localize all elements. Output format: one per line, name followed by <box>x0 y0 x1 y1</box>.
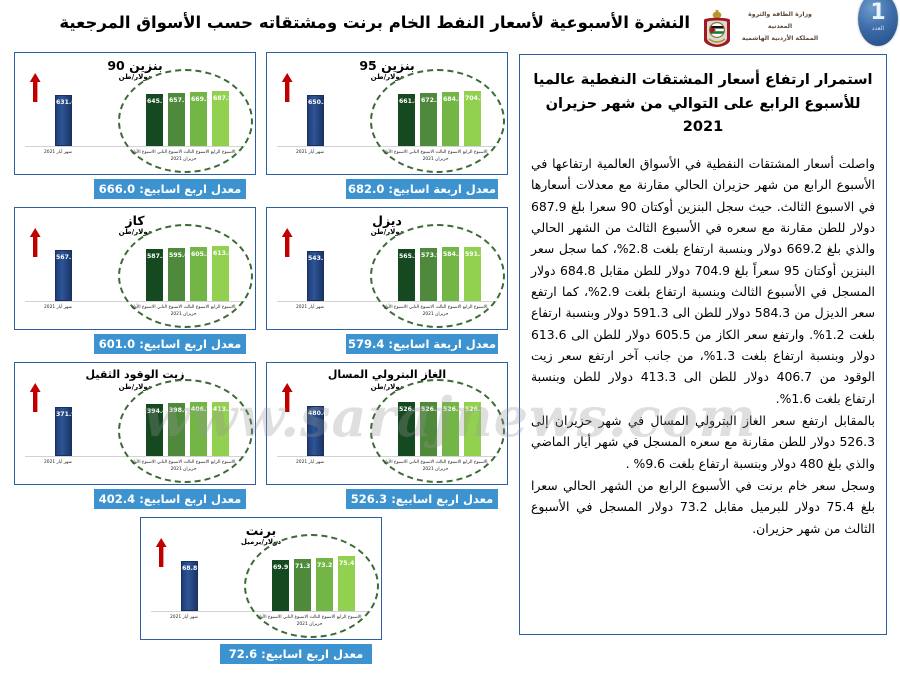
article-paragraph-1: واصلت أسعار المشتقات النفطية في الأسواق … <box>531 153 875 409</box>
issue-label: العدد <box>872 25 884 32</box>
chart-panel-kerosene: كازدولار/طن567.1587.3595.0605.5613.6شهر … <box>14 207 256 330</box>
chart-title-heavy-fuel-oil: زيت الوقود الثقيل <box>15 368 255 381</box>
x-axis-line <box>25 146 245 147</box>
bar-brent-0: 68.8 <box>181 561 198 611</box>
chart-panel-heavy-fuel-oil: زيت الوقود الثقيلدولار/طن371.9394.4398.6… <box>14 362 256 485</box>
bar-value: 394.4 <box>147 408 162 415</box>
bar-benzene-95-4: 704.5 <box>464 91 481 146</box>
plot-area-brent: 68.869.971.373.275.4 <box>147 544 375 612</box>
x-label-weeks: الاسبوع الرابع الاسبوع الثالث الاسبوع ال… <box>374 305 497 310</box>
x-label-month: حزيران 2021 <box>122 312 245 317</box>
x-label-previous-month: شهر أيار 2021 <box>25 150 91 155</box>
bar-kerosene-1: 587.3 <box>146 249 163 301</box>
article-body: واصلت أسعار المشتقات النفطية في الأسواق … <box>531 153 875 539</box>
chart-title-brent: برنت <box>141 523 381 538</box>
jordan-coat-of-arms-icon <box>700 6 734 48</box>
bar-diesel-0: 543.1 <box>307 251 324 301</box>
bar-lpg-0: 480.0 <box>307 406 324 456</box>
ministry-name: وزارة الطاقة والثروة المعدنية المملكة ال… <box>738 9 822 44</box>
x-label-weeks: الاسبوع الرابع الاسبوع الثالث الاسبوع ال… <box>122 305 245 310</box>
issue-badge: 1 العدد <box>858 0 898 46</box>
bar-brent-1: 69.9 <box>272 560 289 611</box>
bar-value: 645.7 <box>147 98 162 105</box>
x-label-month: حزيران 2021 <box>122 157 245 162</box>
bar-diesel-2: 573.9 <box>420 248 437 301</box>
ministry-line-2: المملكة الأردنية الهاشمية <box>738 33 822 45</box>
x-axis-line <box>277 456 497 457</box>
chart-heavy-fuel-oil: زيت الوقود الثقيلدولار/طن371.9394.4398.6… <box>14 362 256 485</box>
bar-value: 661.8 <box>399 98 414 105</box>
bar-brent-2: 71.3 <box>294 559 311 611</box>
bar-heavy-fuel-oil-3: 406.7 <box>190 402 207 456</box>
bar-brent-4: 75.4 <box>338 556 355 611</box>
bar-benzene-90-4: 687.9 <box>212 91 229 146</box>
bar-kerosene-2: 595.0 <box>168 248 185 301</box>
chart-lpg: الغاز البترولي المسالدولار/طن480.0526.35… <box>266 362 508 485</box>
average-chip-brent: معدل اربع اسابيع: 72.6 <box>220 644 372 664</box>
chart-title-lpg: الغاز البترولي المسال <box>267 368 507 381</box>
x-axis-line <box>25 456 245 457</box>
article-panel: استمرار ارتفاع أسعار المشتقات النفطية عا… <box>519 54 887 635</box>
x-label-month: حزيران 2021 <box>374 467 497 472</box>
ministry-logo: وزارة الطاقة والثروة المعدنية المملكة ال… <box>694 4 822 50</box>
bar-value: 413.3 <box>213 406 228 413</box>
article-paragraph-3: وسجل سعر خام برنت في الأسبوع الرابع من ا… <box>531 475 875 539</box>
chart-panel-diesel: ديزلدولار/طن543.1565.2573.9584.3591.3شهر… <box>266 207 508 330</box>
bar-lpg-1: 526.3 <box>398 402 415 457</box>
bar-value: 650.3 <box>308 99 323 106</box>
bar-heavy-fuel-oil-4: 413.3 <box>212 402 229 456</box>
plot-area-kerosene: 567.1587.3595.0605.5613.6 <box>21 234 249 302</box>
bar-value: 657.1 <box>169 97 184 104</box>
x-axis-line <box>277 146 497 147</box>
x-label-month: حزيران 2021 <box>374 157 497 162</box>
ministry-line-1: وزارة الطاقة والثروة المعدنية <box>738 9 822 33</box>
bar-value: 526.3 <box>399 406 414 413</box>
bar-value: 613.6 <box>213 250 228 257</box>
bar-heavy-fuel-oil-2: 398.6 <box>168 403 185 456</box>
bar-benzene-95-2: 672.2 <box>420 93 437 146</box>
chart-diesel: ديزلدولار/طن543.1565.2573.9584.3591.3شهر… <box>266 207 508 330</box>
x-label-weeks: الاسبوع الرابع الاسبوع الثالث الاسبوع ال… <box>122 150 245 155</box>
x-label-previous-month: شهر أيار 2021 <box>277 305 343 310</box>
x-label-month: حزيران 2021 <box>122 467 245 472</box>
bar-value: 672.2 <box>421 97 436 104</box>
bar-value: 631.6 <box>56 99 71 106</box>
bar-value: 591.3 <box>465 251 480 258</box>
page-title: النشرة الأسبوعية لأسعار النفط الخام برنت… <box>130 13 690 32</box>
bar-value: 371.9 <box>56 411 71 418</box>
bar-benzene-95-3: 684.8 <box>442 92 459 146</box>
bar-value: 398.6 <box>169 407 184 414</box>
bar-value: 669.2 <box>191 96 206 103</box>
chart-brent: برنتدولار/برميل68.869.971.373.275.4شهر أ… <box>140 517 382 640</box>
average-chip-benzene-95: معدل اربعة اسابيع: 682.0 <box>346 179 498 199</box>
bar-benzene-90-2: 657.1 <box>168 93 185 146</box>
bar-benzene-90-1: 645.7 <box>146 94 163 146</box>
plot-area-heavy-fuel-oil: 371.9394.4398.6406.7413.3 <box>21 389 249 457</box>
x-label-weeks: الاسبوع الرابع الاسبوع الثالث الاسبوع ال… <box>374 460 497 465</box>
chart-panel-lpg: الغاز البترولي المسالدولار/طن480.0526.35… <box>266 362 508 485</box>
chart-title-benzene-90: بنزين 90 <box>15 58 255 73</box>
x-axis-line <box>25 301 245 302</box>
bar-diesel-3: 584.3 <box>442 247 459 301</box>
bar-heavy-fuel-oil-0: 371.9 <box>55 407 72 456</box>
average-chip-benzene-90: معدل اربع اسابيع: 666.0 <box>94 179 246 199</box>
bar-value: 687.9 <box>213 95 228 102</box>
plot-area-lpg: 480.0526.3526.3526.3526.3 <box>273 389 501 457</box>
x-label-weeks: الاسبوع الرابع الاسبوع الثالث الاسبوع ال… <box>374 150 497 155</box>
issue-number: 1 <box>870 0 885 25</box>
bar-kerosene-0: 567.1 <box>55 250 72 301</box>
bar-value: 68.8 <box>182 565 197 572</box>
chart-kerosene: كازدولار/طن567.1587.3595.0605.5613.6شهر … <box>14 207 256 330</box>
charts-area: بنزين 90دولار/طن631.6645.7657.1669.2687.… <box>14 52 514 672</box>
chart-benzene-90: بنزين 90دولار/طن631.6645.7657.1669.2687.… <box>14 52 256 175</box>
plot-area-benzene-90: 631.6645.7657.1669.2687.9 <box>21 79 249 147</box>
plot-area-diesel: 543.1565.2573.9584.3591.3 <box>273 234 501 302</box>
chart-title-benzene-95: بنزين 95 <box>267 58 507 73</box>
bar-value: 565.2 <box>399 253 414 260</box>
bar-value: 526.3 <box>421 406 436 413</box>
bar-value: 73.2 <box>317 562 332 569</box>
bar-brent-3: 73.2 <box>316 558 333 611</box>
bar-value: 704.5 <box>465 95 480 102</box>
bar-value: 71.3 <box>295 563 310 570</box>
bar-value: 543.1 <box>308 255 323 262</box>
chart-title-kerosene: كاز <box>15 213 255 228</box>
bar-value: 684.8 <box>443 96 458 103</box>
bar-value: 69.9 <box>273 564 288 571</box>
page-header: النشرة الأسبوعية لأسعار النفط الخام برنت… <box>0 0 900 52</box>
article-paragraph-2: بالمقابل ارتفع سعر الغاز البترولي المسال… <box>531 410 875 474</box>
average-chip-diesel: معدل اربعة اسابيع: 579.4 <box>346 334 498 354</box>
x-label-month: حزيران 2021 <box>248 622 371 627</box>
bar-diesel-4: 591.3 <box>464 247 481 301</box>
average-chip-kerosene: معدل اربع اسابيع: 601.0 <box>94 334 246 354</box>
bar-kerosene-4: 613.6 <box>212 246 229 301</box>
chart-panel-benzene-90: بنزين 90دولار/طن631.6645.7657.1669.2687.… <box>14 52 256 175</box>
bar-benzene-90-3: 669.2 <box>190 92 207 146</box>
bar-value: 584.3 <box>443 251 458 258</box>
bar-heavy-fuel-oil-1: 394.4 <box>146 404 163 456</box>
x-label-month: حزيران 2021 <box>374 312 497 317</box>
bar-value: 567.1 <box>56 254 71 261</box>
bar-value: 573.9 <box>421 252 436 259</box>
average-chip-lpg: معدل اربع اسابيع: 526.3 <box>346 489 498 509</box>
bar-kerosene-3: 605.5 <box>190 247 207 301</box>
chart-panel-benzene-95: بنزين 95دولار/طن650.3661.8672.2684.8704.… <box>266 52 508 175</box>
chart-panel-brent: برنتدولار/برميل68.869.971.373.275.4شهر أ… <box>140 517 382 640</box>
chart-benzene-95: بنزين 95دولار/طن650.3661.8672.2684.8704.… <box>266 52 508 175</box>
x-label-previous-month: شهر أيار 2021 <box>277 150 343 155</box>
plot-area-benzene-95: 650.3661.8672.2684.8704.5 <box>273 79 501 147</box>
bar-lpg-2: 526.3 <box>420 402 437 457</box>
bar-benzene-95-1: 661.8 <box>398 94 415 146</box>
bar-value: 526.3 <box>443 406 458 413</box>
x-label-previous-month: شهر أيار 2021 <box>25 305 91 310</box>
bar-value: 587.3 <box>147 253 162 260</box>
bar-benzene-90-0: 631.6 <box>55 95 72 146</box>
x-label-previous-month: شهر أيار 2021 <box>277 460 343 465</box>
x-label-previous-month: شهر أيار 2021 <box>25 460 91 465</box>
bar-value: 75.4 <box>339 560 354 567</box>
bar-value: 605.5 <box>191 251 206 258</box>
average-chip-heavy-fuel-oil: معدل اربع اسابيع: 402.4 <box>94 489 246 509</box>
chart-title-diesel: ديزل <box>267 213 507 228</box>
bar-value: 480.0 <box>308 410 323 417</box>
bar-lpg-3: 526.3 <box>442 402 459 457</box>
bar-value: 406.7 <box>191 406 206 413</box>
bar-value: 595.0 <box>169 252 184 259</box>
x-label-weeks: الاسبوع الرابع الاسبوع الثالث الاسبوع ال… <box>122 460 245 465</box>
bar-diesel-1: 565.2 <box>398 249 415 301</box>
x-label-previous-month: شهر أيار 2021 <box>151 615 217 620</box>
article-title: استمرار ارتفاع أسعار المشتقات النفطية عا… <box>533 68 873 139</box>
bar-lpg-4: 526.3 <box>464 402 481 457</box>
x-axis-line <box>277 301 497 302</box>
bar-value: 526.3 <box>465 406 480 413</box>
bar-benzene-95-0: 650.3 <box>307 95 324 146</box>
x-label-weeks: الاسبوع الرابع الاسبوع الثالث الاسبوع ال… <box>248 615 371 620</box>
x-axis-line <box>151 611 371 612</box>
